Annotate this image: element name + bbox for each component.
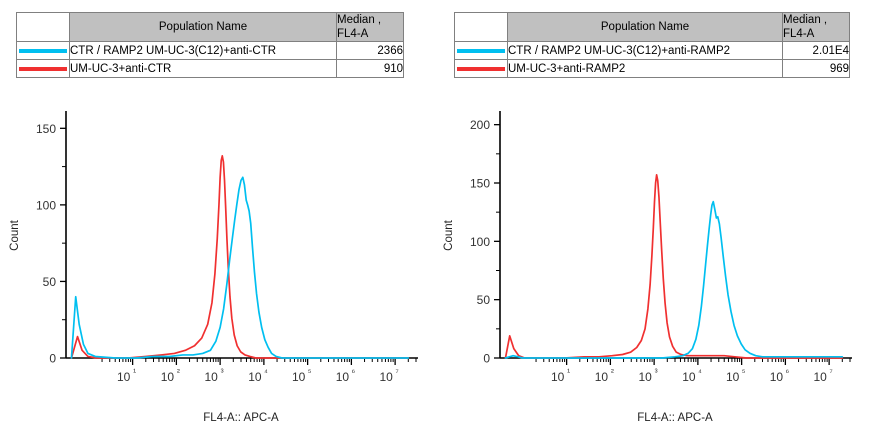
svg-text:10: 10 (726, 370, 740, 384)
series-curve (505, 175, 842, 358)
panel-right: Population Name Median , FL4-A CTR / RAM… (434, 0, 868, 437)
svg-text:²: ² (177, 367, 180, 377)
legend-row[interactable]: UM-UC-3+anti-CTR 910 (17, 60, 404, 78)
y-axis-ticks: 050100150 (36, 122, 66, 366)
svg-text:0: 0 (49, 352, 56, 366)
legend-color-swatch-cell (17, 42, 70, 60)
svg-text:10: 10 (204, 370, 218, 384)
legend-population-name-header: Population Name (70, 13, 337, 42)
svg-text:³: ³ (655, 367, 658, 377)
svg-text:⁶: ⁶ (352, 367, 356, 377)
y-axis-label: Count (9, 219, 21, 250)
legend-row[interactable]: UM-UC-3+anti-RAMP2 969 (455, 60, 850, 78)
svg-text:10: 10 (682, 370, 696, 384)
legend-color-swatch-cell (17, 60, 70, 78)
svg-text:¹: ¹ (567, 367, 570, 377)
y-axis-ticks: 050100150200 (470, 118, 500, 365)
histogram-plot-left: 05010015010¹10²10³10⁴10⁵10⁶10⁷CountFL4-A… (0, 105, 434, 435)
svg-text:100: 100 (36, 198, 56, 212)
histogram-svg: 05010015010¹10²10³10⁴10⁵10⁶10⁷CountFL4-A… (0, 105, 434, 435)
svg-text:50: 50 (43, 275, 57, 289)
svg-text:²: ² (611, 367, 614, 377)
axis-lines (500, 111, 852, 358)
svg-text:10: 10 (379, 370, 393, 384)
svg-text:10: 10 (336, 370, 350, 384)
legend-population-name: CTR / RAMP2 UM-UC-3(C12)+anti-CTR (70, 42, 337, 60)
panel-left: Population Name Median , FL4-A CTR / RAM… (0, 0, 434, 437)
axis-lines (66, 111, 418, 358)
svg-text:10: 10 (551, 370, 565, 384)
x-axis-label: FL4-A:: APC-A (203, 412, 279, 424)
series-curve (71, 177, 408, 358)
legend-median-header-line2: FL4-A (783, 27, 849, 41)
svg-text:⁵: ⁵ (742, 367, 746, 377)
svg-text:10: 10 (770, 370, 784, 384)
legend-population-name: UM-UC-3+anti-RAMP2 (508, 60, 783, 78)
legend-median-header: Median , FL4-A (337, 13, 404, 42)
svg-text:10: 10 (248, 370, 262, 384)
svg-text:⁷: ⁷ (395, 367, 398, 377)
legend-swatch-header (455, 13, 508, 42)
legend-median-value: 2366 (337, 42, 404, 60)
svg-text:50: 50 (477, 293, 491, 307)
legend-median-value: 910 (337, 60, 404, 78)
svg-text:10: 10 (117, 370, 131, 384)
svg-text:10: 10 (638, 370, 652, 384)
svg-text:100: 100 (470, 235, 490, 249)
legend-median-header: Median , FL4-A (783, 13, 850, 42)
legend-row[interactable]: CTR / RAMP2 UM-UC-3(C12)+anti-CTR 2366 (17, 42, 404, 60)
svg-text:10: 10 (813, 370, 827, 384)
svg-text:⁵: ⁵ (308, 367, 312, 377)
legend-header-row: Population Name Median , FL4-A (455, 13, 850, 42)
legend-median-value: 969 (783, 60, 850, 78)
svg-text:10: 10 (595, 370, 609, 384)
legend-median-value: 2.01E4 (783, 42, 850, 60)
series-color-swatch (19, 49, 67, 53)
svg-text:¹: ¹ (133, 367, 136, 377)
legend-median-header-line1: Median , (337, 13, 403, 27)
legend-median-header-line1: Median , (783, 13, 849, 27)
x-axis-label: FL4-A:: APC-A (637, 412, 713, 424)
legend-color-swatch-cell (455, 42, 508, 60)
svg-text:10: 10 (161, 370, 175, 384)
svg-text:⁷: ⁷ (829, 367, 832, 377)
legend-color-swatch-cell (455, 60, 508, 78)
legend-row[interactable]: CTR / RAMP2 UM-UC-3(C12)+anti-RAMP2 2.01… (455, 42, 850, 60)
svg-text:³: ³ (221, 367, 224, 377)
legend-population-name: CTR / RAMP2 UM-UC-3(C12)+anti-RAMP2 (508, 42, 783, 60)
legend-population-name: UM-UC-3+anti-CTR (70, 60, 337, 78)
legend-median-header-line2: FL4-A (337, 27, 403, 41)
series-color-swatch (457, 49, 505, 53)
svg-text:150: 150 (36, 122, 56, 136)
svg-text:⁴: ⁴ (264, 367, 268, 377)
legend-swatch-header (17, 13, 70, 42)
svg-text:10: 10 (292, 370, 306, 384)
svg-text:200: 200 (470, 118, 490, 132)
svg-text:150: 150 (470, 177, 490, 191)
legend-table-left: Population Name Median , FL4-A CTR / RAM… (16, 12, 404, 78)
series-curve (505, 202, 842, 358)
svg-text:⁴: ⁴ (698, 367, 702, 377)
histogram-plot-right: 05010015020010¹10²10³10⁴10⁵10⁶10⁷CountFL… (434, 105, 868, 435)
legend-header-row: Population Name Median , FL4-A (17, 13, 404, 42)
x-axis-ticks: 10¹10²10³10⁴10⁵10⁶10⁷ (536, 358, 850, 384)
legend-table-right: Population Name Median , FL4-A CTR / RAM… (454, 12, 850, 78)
svg-text:0: 0 (483, 352, 490, 366)
series-color-swatch (457, 67, 505, 71)
series-color-swatch (19, 67, 67, 71)
histogram-svg: 05010015020010¹10²10³10⁴10⁵10⁶10⁷CountFL… (434, 105, 868, 435)
legend-population-name-header: Population Name (508, 13, 783, 42)
y-axis-label: Count (443, 219, 455, 250)
svg-text:⁶: ⁶ (786, 367, 790, 377)
x-axis-ticks: 10¹10²10³10⁴10⁵10⁶10⁷ (102, 358, 416, 384)
